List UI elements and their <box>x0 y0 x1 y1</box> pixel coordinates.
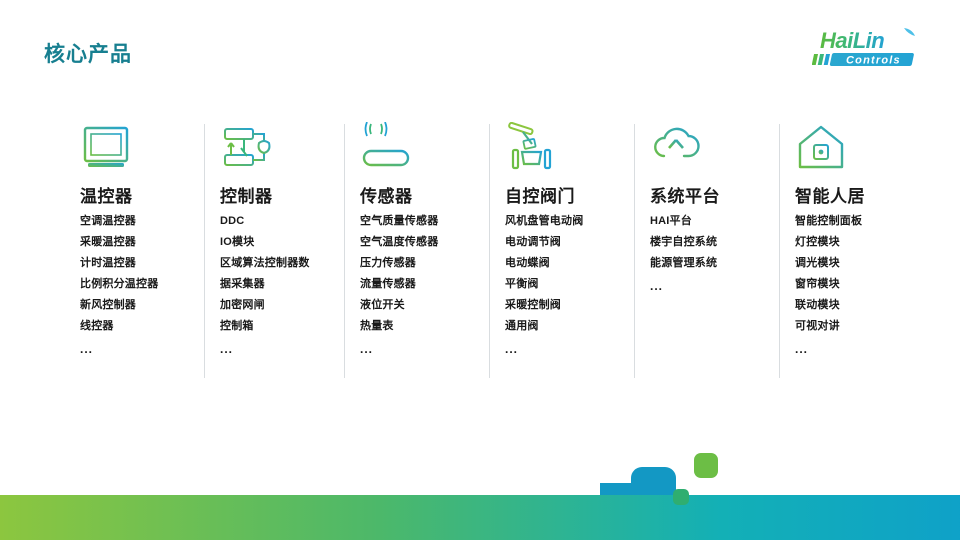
cloud-upload-icon <box>650 122 702 174</box>
product-column-smart-home[interactable]: 智能人居 智能控制面板 灯控模块 调光模块 窗帘模块 联动模块 可视对讲 ... <box>793 122 938 402</box>
decor-notch-blue <box>600 483 631 495</box>
column-ellipsis: ... <box>360 342 503 356</box>
column-title: 传感器 <box>360 188 503 207</box>
product-column-controllers[interactable]: 控制器 DDC IO模块 区域算法控制器数 据采集器 加密网闸 控制箱 ... <box>218 122 358 402</box>
list-item[interactable]: 加密网闸 <box>220 300 358 311</box>
list-item[interactable]: 新风控制器 <box>80 300 218 311</box>
column-title: 自控阀门 <box>505 188 648 207</box>
list-item[interactable]: 电动蝶阀 <box>505 258 648 269</box>
controller-diagram-icon <box>220 122 272 174</box>
product-columns: 温控器 空调温控器 采暖温控器 计时温控器 比例积分温控器 新风控制器 线控器 … <box>78 122 948 402</box>
bottom-gradient-bar <box>0 495 960 540</box>
product-column-platform[interactable]: 系统平台 HAI平台 楼宇自控系统 能源管理系统 ... <box>648 122 793 402</box>
list-item[interactable]: 灯控模块 <box>795 237 938 248</box>
list-item[interactable]: 控制箱 <box>220 321 358 332</box>
list-item[interactable]: 联动模块 <box>795 300 938 311</box>
column-item-list: 智能控制面板 灯控模块 调光模块 窗帘模块 联动模块 可视对讲 <box>795 216 938 332</box>
list-item[interactable]: 空气质量传感器 <box>360 216 503 227</box>
page-title: 核心产品 <box>44 38 132 68</box>
list-item[interactable]: 流量传感器 <box>360 279 503 290</box>
list-item[interactable]: HAI平台 <box>650 216 793 227</box>
list-item[interactable]: 平衡阀 <box>505 279 648 290</box>
monitor-thermostat-icon <box>80 122 132 174</box>
list-item[interactable]: 电动调节阀 <box>505 237 648 248</box>
list-item[interactable]: 压力传感器 <box>360 258 503 269</box>
smart-home-chip-icon <box>795 122 847 174</box>
list-item[interactable]: 调光模块 <box>795 258 938 269</box>
list-item[interactable]: 液位开关 <box>360 300 503 311</box>
list-item[interactable]: 空调温控器 <box>80 216 218 227</box>
column-divider <box>634 124 635 378</box>
column-ellipsis: ... <box>80 342 218 356</box>
list-item[interactable]: 窗帘模块 <box>795 279 938 290</box>
list-item[interactable]: 能源管理系统 <box>650 258 793 269</box>
list-item[interactable]: 风机盘管电动阀 <box>505 216 648 227</box>
list-item[interactable]: 据采集器 <box>220 279 358 290</box>
product-column-sensors[interactable]: 传感器 空气质量传感器 空气温度传感器 压力传感器 流量传感器 液位开关 热量表… <box>358 122 503 402</box>
control-valve-icon <box>505 122 557 174</box>
column-item-list: DDC IO模块 区域算法控制器数 据采集器 加密网闸 控制箱 <box>220 216 358 332</box>
column-item-list: 空气质量传感器 空气温度传感器 压力传感器 流量传感器 液位开关 热量表 <box>360 216 503 332</box>
list-item[interactable]: 可视对讲 <box>795 321 938 332</box>
column-title: 系统平台 <box>650 188 793 207</box>
column-ellipsis: ... <box>795 342 938 356</box>
list-item[interactable]: DDC <box>220 216 358 227</box>
column-ellipsis: ... <box>505 342 648 356</box>
column-divider <box>489 124 490 378</box>
list-item[interactable]: IO模块 <box>220 237 358 248</box>
list-item[interactable]: 楼宇自控系统 <box>650 237 793 248</box>
list-item[interactable]: 区域算法控制器数 <box>220 258 358 269</box>
list-item[interactable]: 计时温控器 <box>80 258 218 269</box>
list-item[interactable]: 采暖温控器 <box>80 237 218 248</box>
product-column-valves[interactable]: 自控阀门 风机盘管电动阀 电动调节阀 电动蝶阀 平衡阀 采暖控制阀 通用阀 ..… <box>503 122 648 402</box>
column-divider <box>344 124 345 378</box>
list-item[interactable]: 线控器 <box>80 321 218 332</box>
list-item[interactable]: 热量表 <box>360 321 503 332</box>
decor-square-green-small <box>673 489 689 505</box>
product-column-thermostats[interactable]: 温控器 空调温控器 采暖温控器 计时温控器 比例积分温控器 新风控制器 线控器 … <box>78 122 218 402</box>
column-item-list: 空调温控器 采暖温控器 计时温控器 比例积分温控器 新风控制器 线控器 <box>80 216 218 332</box>
list-item[interactable]: 空气温度传感器 <box>360 237 503 248</box>
decor-step-blue <box>631 467 676 495</box>
wireless-sensor-icon <box>360 122 412 174</box>
column-item-list: HAI平台 楼宇自控系统 能源管理系统 <box>650 216 793 269</box>
svg-text:Controls: Controls <box>846 55 901 67</box>
column-ellipsis: ... <box>650 279 793 293</box>
column-ellipsis: ... <box>220 342 358 356</box>
list-item[interactable]: 采暖控制阀 <box>505 300 648 311</box>
column-divider <box>204 124 205 378</box>
list-item[interactable]: 比例积分温控器 <box>80 279 218 290</box>
list-item[interactable]: 智能控制面板 <box>795 216 938 227</box>
svg-text:HaiLin: HaiLin <box>820 28 884 53</box>
slide-root: 核心产品 HaiLin Control <box>0 0 960 540</box>
decor-square-green-large <box>694 453 718 478</box>
column-title: 控制器 <box>220 188 358 207</box>
column-title: 智能人居 <box>795 188 938 207</box>
column-title: 温控器 <box>80 188 218 207</box>
column-divider <box>779 124 780 378</box>
column-item-list: 风机盘管电动阀 电动调节阀 电动蝶阀 平衡阀 采暖控制阀 通用阀 <box>505 216 648 332</box>
hailin-logo: HaiLin Controls <box>812 26 934 72</box>
list-item[interactable]: 通用阀 <box>505 321 648 332</box>
